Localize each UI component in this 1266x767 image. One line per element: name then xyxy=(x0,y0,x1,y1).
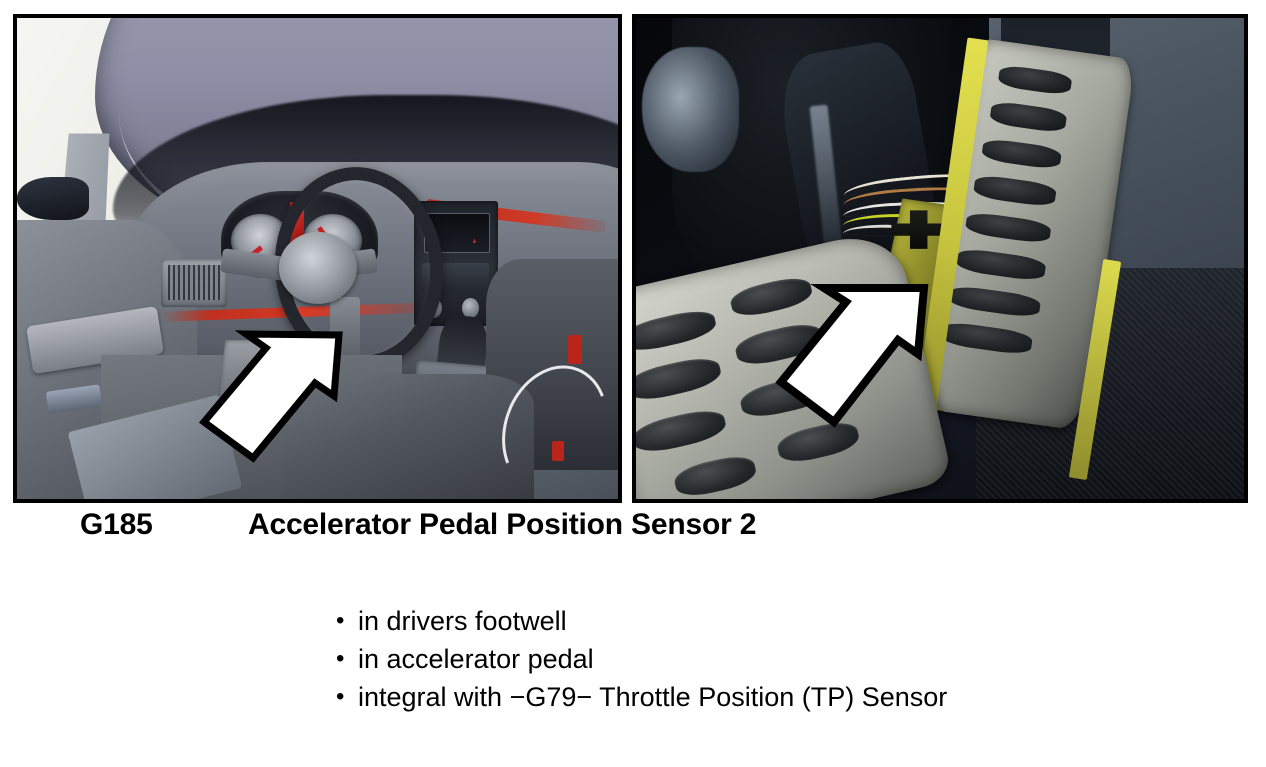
figure-row xyxy=(0,0,1266,505)
list-item: in drivers footwell xyxy=(336,602,1096,640)
pointer-arrow-left xyxy=(196,330,346,465)
component-title: Accelerator Pedal Position Sensor 2 xyxy=(248,508,756,542)
component-code: G185 xyxy=(80,508,153,542)
red-marker-clip xyxy=(568,335,582,364)
caption: G185 Accelerator Pedal Position Sensor 2 xyxy=(0,508,1266,564)
red-marker-clip-lower xyxy=(552,441,564,460)
side-mirror xyxy=(17,177,89,220)
list-item: integral with −G79− Throttle Position (T… xyxy=(336,678,1096,716)
upper-left-trim xyxy=(642,47,739,172)
component-details-list: in drivers footwell in accelerator pedal… xyxy=(336,602,1096,716)
list-item: in accelerator pedal xyxy=(336,640,1096,678)
pointer-arrow-right xyxy=(772,282,932,428)
air-vent xyxy=(161,259,227,307)
pedal-assembly-photo xyxy=(632,14,1248,503)
steering-wheel-hub xyxy=(278,232,356,304)
pedal-photo-content xyxy=(636,18,1244,499)
